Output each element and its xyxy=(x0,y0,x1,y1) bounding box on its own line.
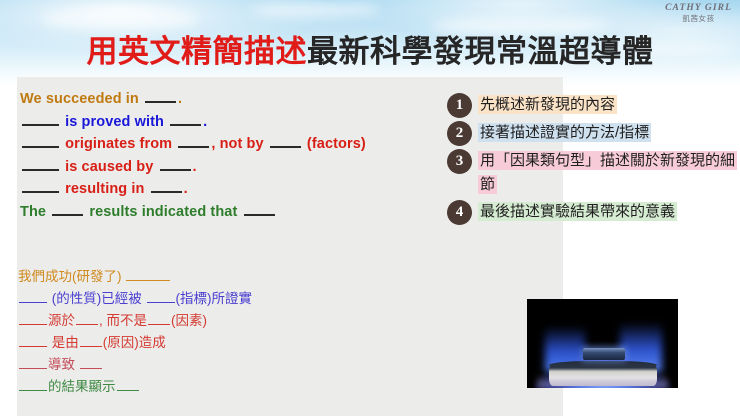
blank-placeholder xyxy=(19,334,47,347)
brand-name-english: CATHY GIRL xyxy=(665,3,732,14)
pattern-text: 的結果顯示 xyxy=(48,379,116,394)
pattern-line: (的性質)已經被 (指標)所證實 xyxy=(18,288,348,310)
photo-levitating-magnet xyxy=(583,348,625,360)
step-label: 用「因果類句型」描述關於新發現的細節 xyxy=(478,148,735,197)
page-title-rest: 最新科學發現常溫超導體 xyxy=(307,34,654,69)
pattern-text: . xyxy=(193,159,197,175)
step-label: 先概述新發現的內容 xyxy=(478,92,617,117)
pattern-line: 我們成功(研發了) xyxy=(18,266,348,288)
pattern-text: (的性質)已經被 xyxy=(48,291,146,306)
pattern-text: (因素) xyxy=(171,313,207,328)
superconductor-levitation-photo xyxy=(527,299,678,388)
pattern-line: 導致 xyxy=(18,354,348,376)
pattern-line: is caused by . xyxy=(20,156,440,179)
blank-placeholder xyxy=(19,290,47,303)
pattern-text: 是由 xyxy=(48,335,79,350)
blank-placeholder xyxy=(244,201,275,216)
pattern-text: 源於 xyxy=(48,313,75,328)
pattern-text: is caused by xyxy=(61,159,158,175)
pattern-text: , not by xyxy=(211,136,267,152)
pattern-text: . xyxy=(203,114,207,130)
pattern-line: resulting in . xyxy=(20,178,440,201)
step-number-badge: 2 xyxy=(447,121,472,146)
chinese-pattern-list: 我們成功(研發了) (的性質)已經被 (指標)所證實源於, 而不是(因素) 是由… xyxy=(18,266,348,398)
blank-placeholder xyxy=(19,378,47,391)
blank-placeholder xyxy=(80,356,102,369)
pattern-text: (原因)造成 xyxy=(103,335,166,350)
step-number-badge: 3 xyxy=(447,149,472,174)
step-label: 最後描述實驗結果帶來的意義 xyxy=(478,199,677,224)
pattern-line: 源於, 而不是(因素) xyxy=(18,310,348,332)
brand-name-chinese: 凱茜女孩 xyxy=(665,15,732,24)
page-title: 用英文精簡描述最新科學發現常溫超導體 xyxy=(0,26,740,71)
blank-placeholder xyxy=(147,290,175,303)
step-number-badge: 4 xyxy=(447,200,472,225)
page-title-highlight: 用英文精簡描述 xyxy=(87,34,308,69)
blank-placeholder xyxy=(80,334,102,347)
step-item-3: 3用「因果類句型」描述關於新發現的細節 xyxy=(447,148,735,197)
blank-placeholder xyxy=(151,178,182,193)
pattern-text: resulting in xyxy=(61,181,149,197)
blank-placeholder xyxy=(52,201,83,216)
blank-placeholder xyxy=(22,133,59,148)
pattern-text: (factors) xyxy=(303,136,366,152)
blank-placeholder xyxy=(19,356,47,369)
step-list: 1先概述新發現的內容2接著描述證實的方法/指標3用「因果類句型」描述關於新發現的… xyxy=(447,92,735,227)
pattern-text: The xyxy=(20,204,50,220)
pattern-line: We succeeded in . xyxy=(20,88,440,111)
blank-placeholder xyxy=(22,178,59,193)
pattern-text: . xyxy=(178,91,182,107)
blank-placeholder xyxy=(126,268,170,281)
blank-placeholder xyxy=(19,312,47,325)
english-pattern-list: We succeeded in . is proved with . origi… xyxy=(20,88,440,223)
blank-placeholder xyxy=(270,133,301,148)
blank-placeholder xyxy=(170,111,201,126)
blank-placeholder xyxy=(160,156,191,171)
pattern-text: , 而不是 xyxy=(99,313,147,328)
pattern-text: (指標)所證實 xyxy=(176,291,253,306)
blank-placeholder xyxy=(178,133,209,148)
pattern-text: results indicated that xyxy=(85,204,241,220)
pattern-line: originates from , not by (factors) xyxy=(20,133,440,156)
step-item-2: 2接著描述證實的方法/指標 xyxy=(447,120,735,146)
pattern-text: 導致 xyxy=(48,357,79,372)
blank-placeholder xyxy=(117,378,139,391)
pattern-text: We succeeded in xyxy=(20,91,143,107)
photo-mist xyxy=(537,374,668,388)
blank-placeholder xyxy=(76,312,98,325)
blank-placeholder xyxy=(145,88,176,103)
step-label: 接著描述證實的方法/指標 xyxy=(478,120,651,145)
pattern-text: originates from xyxy=(61,136,176,152)
step-item-1: 1先概述新發現的內容 xyxy=(447,92,735,118)
pattern-line: 的結果顯示 xyxy=(18,376,348,398)
blank-placeholder xyxy=(148,312,170,325)
pattern-line: is proved with . xyxy=(20,111,440,134)
pattern-line: 是由(原因)造成 xyxy=(18,332,348,354)
pattern-text: . xyxy=(184,181,188,197)
blank-placeholder xyxy=(22,111,59,126)
step-item-4: 4最後描述實驗結果帶來的意義 xyxy=(447,199,735,225)
blank-placeholder xyxy=(22,156,59,171)
brand-watermark: CATHY GIRL 凱茜女孩 xyxy=(665,3,732,24)
pattern-line: The results indicated that xyxy=(20,201,440,224)
pattern-text: is proved with xyxy=(61,114,168,130)
slide-root: CATHY GIRL 凱茜女孩 用英文精簡描述最新科學發現常溫超導體 We su… xyxy=(0,0,740,416)
step-number-badge: 1 xyxy=(447,93,472,118)
pattern-text: 我們成功(研發了) xyxy=(18,269,125,284)
